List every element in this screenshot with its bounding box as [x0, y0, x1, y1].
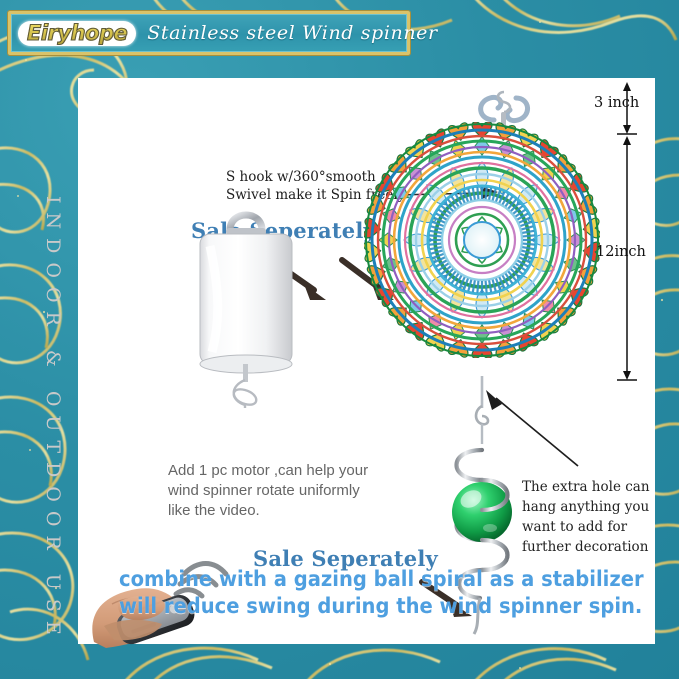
motor-note-line1: Add 1 pc motor ,can help your [168, 461, 408, 481]
bottom-headline-line1: combine with a gazing ball spiral as a s… [119, 566, 626, 593]
dimension-rulers [612, 82, 642, 382]
extra-hole-note-line3: want to add for [522, 517, 672, 537]
content-panel: INDOOR & OUTDOOR USE S hook w/360°smooth… [78, 78, 655, 644]
bottom-headline: combine with a gazing ball spiral as a s… [119, 566, 626, 620]
extra-hole-note-line2: hang anything you [522, 497, 672, 517]
bottom-headline-line2: will reduce swing during the wind spinne… [119, 593, 626, 620]
dimension-label-body: 12inch [596, 244, 646, 260]
brand-logo: Eiryhope [18, 21, 136, 46]
motor-note: Add 1 pc motor ,can help your wind spinn… [168, 461, 408, 521]
dimension-label-top: 3 inch [594, 95, 639, 111]
hanging-motor-product [186, 200, 306, 408]
motor-note-line3: like the video. [168, 501, 408, 521]
brand-logo-text: Eiryhope [27, 22, 127, 44]
indoor-outdoor-label: INDOOR & OUTDOOR USE [42, 196, 64, 616]
infographic-canvas: Eiryhope Stainless steel Wind spinner IN… [0, 0, 679, 679]
brand-banner: Eiryhope Stainless steel Wind spinner [8, 11, 410, 55]
extra-hole-note: The extra hole can hang anything you wan… [522, 477, 672, 557]
banner-title: Stainless steel Wind spinner [147, 22, 437, 44]
mandala-wind-spinner [364, 122, 600, 358]
extra-hole-note-line4: further decoration [522, 537, 672, 557]
motor-note-line2: wind spinner rotate uniformly [168, 481, 408, 501]
extra-hole-note-line1: The extra hole can [522, 477, 672, 497]
